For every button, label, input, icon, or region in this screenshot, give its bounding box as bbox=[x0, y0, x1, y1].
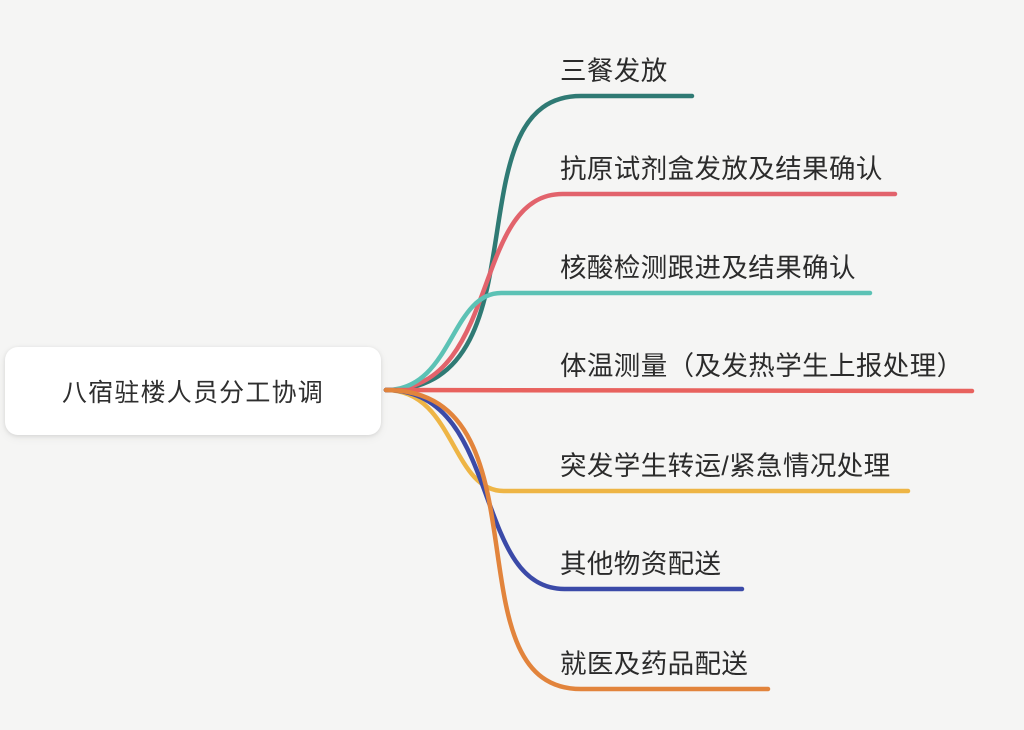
root-node[interactable]: 八宿驻楼人员分工协调 bbox=[5, 347, 381, 435]
branch-connector-medical-and-medicine bbox=[386, 390, 768, 689]
branch-label-meal-distribution[interactable]: 三餐发放 bbox=[560, 58, 668, 85]
branch-label-other-supplies[interactable]: 其他物资配送 bbox=[560, 551, 721, 578]
branch-connector-meal-distribution bbox=[386, 96, 692, 390]
branch-label-temperature-check[interactable]: 体温测量（及发热学生上报处理） bbox=[560, 353, 964, 380]
branch-label-antigen-kit[interactable]: 抗原试剂盒发放及结果确认 bbox=[560, 156, 883, 183]
branch-label-nucleic-acid-test[interactable]: 核酸检测跟进及结果确认 bbox=[560, 255, 856, 282]
mindmap-canvas: 八宿驻楼人员分工协调 三餐发放抗原试剂盒发放及结果确认核酸检测跟进及结果确认体温… bbox=[0, 0, 1024, 730]
branch-label-emergency-transfer[interactable]: 突发学生转运/紧急情况处理 bbox=[560, 453, 891, 480]
branch-label-medical-and-medicine[interactable]: 就医及药品配送 bbox=[560, 651, 748, 678]
root-node-label: 八宿驻楼人员分工协调 bbox=[62, 373, 324, 409]
branch-connector-temperature-check bbox=[386, 390, 972, 391]
